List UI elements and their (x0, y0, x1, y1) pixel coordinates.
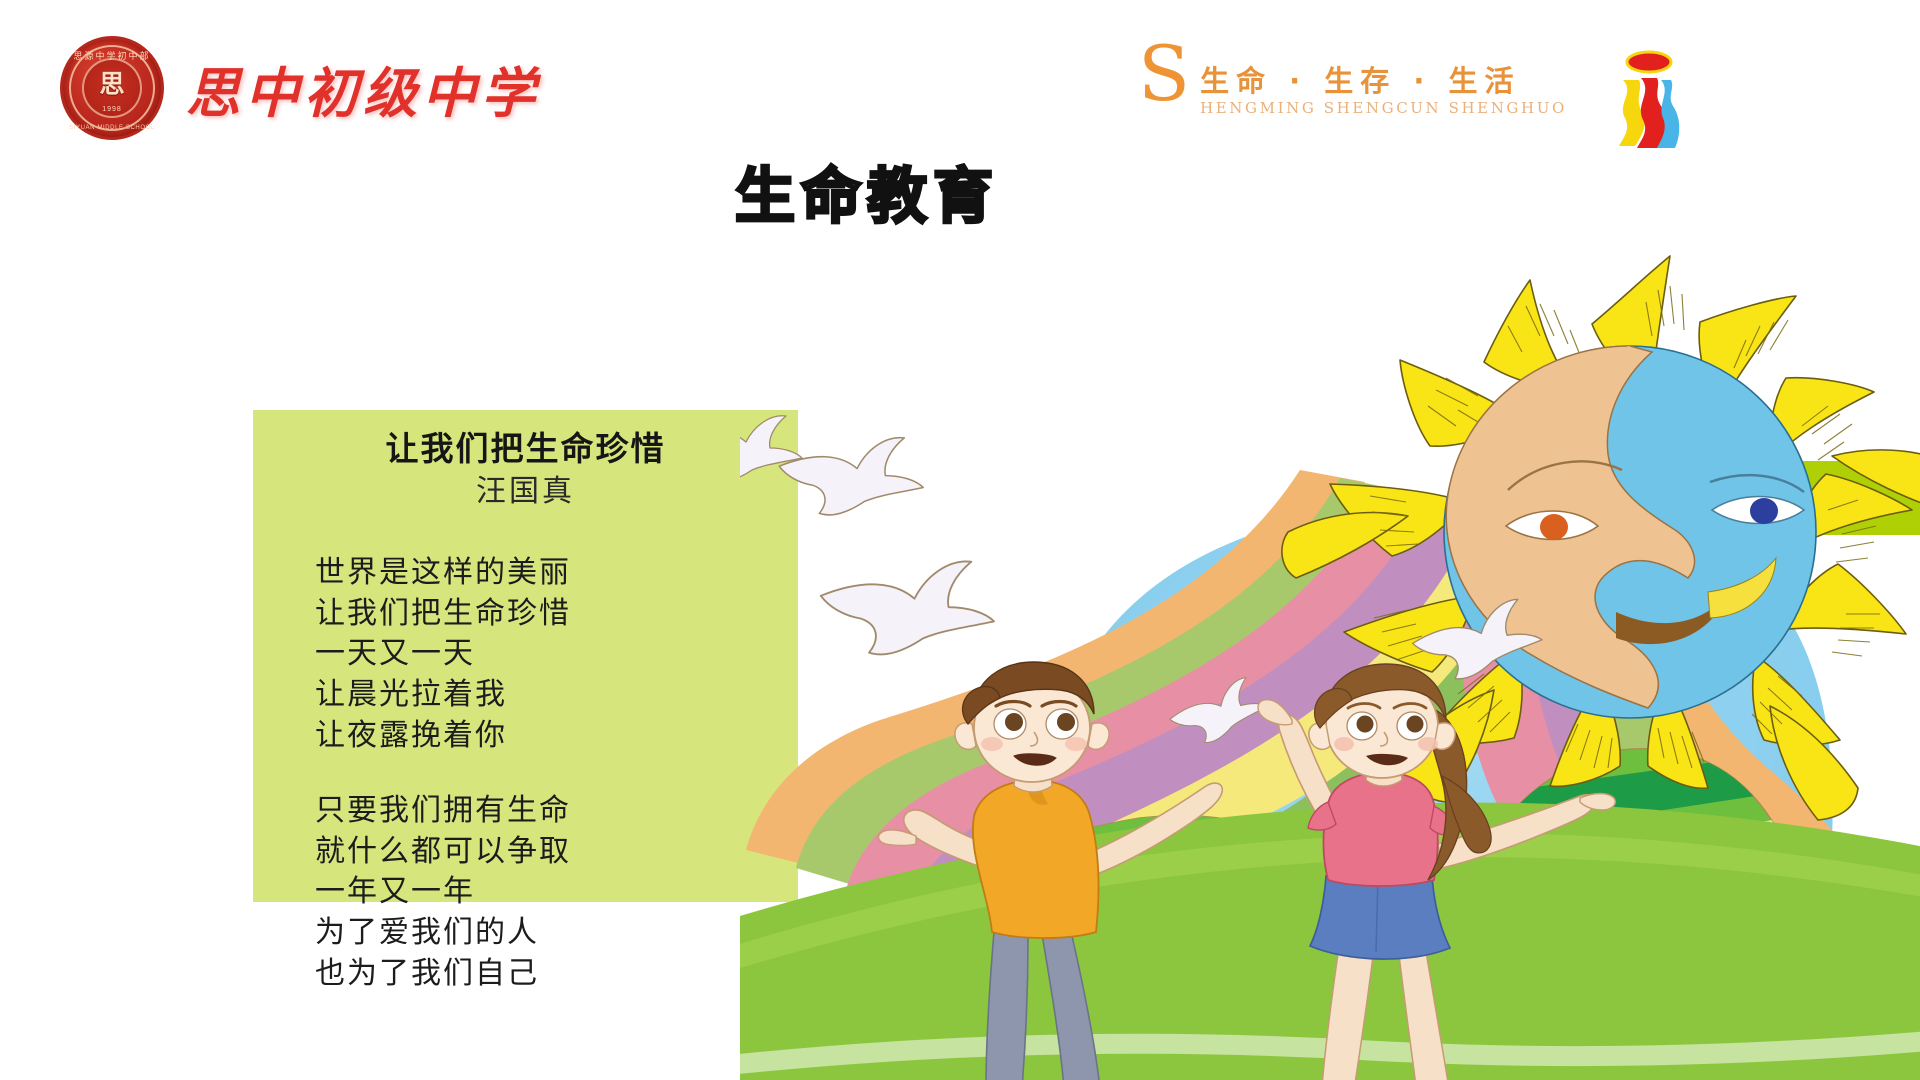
page-title: 生命教育 (735, 148, 999, 235)
poem-line: 也为了我们自己 (315, 954, 798, 995)
poem-line: 让夜露挽着你 (315, 716, 798, 757)
brand-chinese-slogan: 生命 · 生存 · 生活 (1200, 66, 1567, 96)
school-name-text: 思中初级中学 (186, 49, 540, 128)
dove (779, 438, 923, 515)
poem-line: 一天又一天 (315, 634, 798, 675)
seal-arc-bottom-text: SIYUAN MIDDLE SCHOOL (69, 125, 155, 131)
brand-monogram-s: S (1138, 44, 1190, 103)
poem-line: 世界是这样的美丽 (315, 553, 798, 594)
poem-author: 汪国真 (253, 473, 798, 511)
poem-line: 让晨光拉着我 (315, 675, 798, 716)
poem-line: 只要我们拥有生命 (315, 791, 798, 832)
poem-title: 让我们把生命珍惜 (253, 428, 798, 469)
poem-line: 为了爱我们的人 (315, 913, 798, 954)
seal-year-text: 1998 (102, 106, 122, 113)
school-brand: 思源中学初中部 思 1998 SIYUAN MIDDLE SCHOOL 思中初级… (60, 36, 540, 140)
poem-line: 就什么都可以争取 (315, 832, 798, 873)
life-education-illustration (740, 250, 1920, 1080)
poem-line: 让我们把生命珍惜 (315, 594, 798, 635)
brand-pinyin-slogan: HENGMING SHENGCUN SHENGHUO (1200, 99, 1567, 117)
poem-line: 一年又一年 (315, 872, 798, 913)
poem-stanza-1: 世界是这样的美丽 让我们把生命珍惜 一天又一天 让晨光拉着我 让夜露挽着你 (253, 553, 798, 757)
brand-text-block: 生命 · 生存 · 生活 HENGMING SHENGCUN SHENGHUO (1200, 48, 1567, 117)
dove (821, 561, 994, 654)
seal-center-character: 思 (99, 71, 124, 96)
poem-panel: 让我们把生命珍惜 汪国真 世界是这样的美丽 让我们把生命珍惜 一天又一天 让晨光… (253, 410, 798, 902)
poem-stanza-2: 只要我们拥有生命 就什么都可以争取 一年又一年 为了爱我们的人 也为了我们自己 (253, 791, 798, 995)
school-seal-icon: 思源中学初中部 思 1998 SIYUAN MIDDLE SCHOOL (60, 36, 164, 140)
slide-canvas: 思源中学初中部 思 1998 SIYUAN MIDDLE SCHOOL 思中初级… (0, 0, 1920, 1080)
seal-arc-top-text: 思源中学初中部 (73, 49, 150, 62)
life-colorful-mark-icon (1613, 46, 1681, 150)
life-education-brand: S 生命 · 生存 · 生活 HENGMING SHENGCUN SHENGHU… (1138, 48, 1567, 117)
